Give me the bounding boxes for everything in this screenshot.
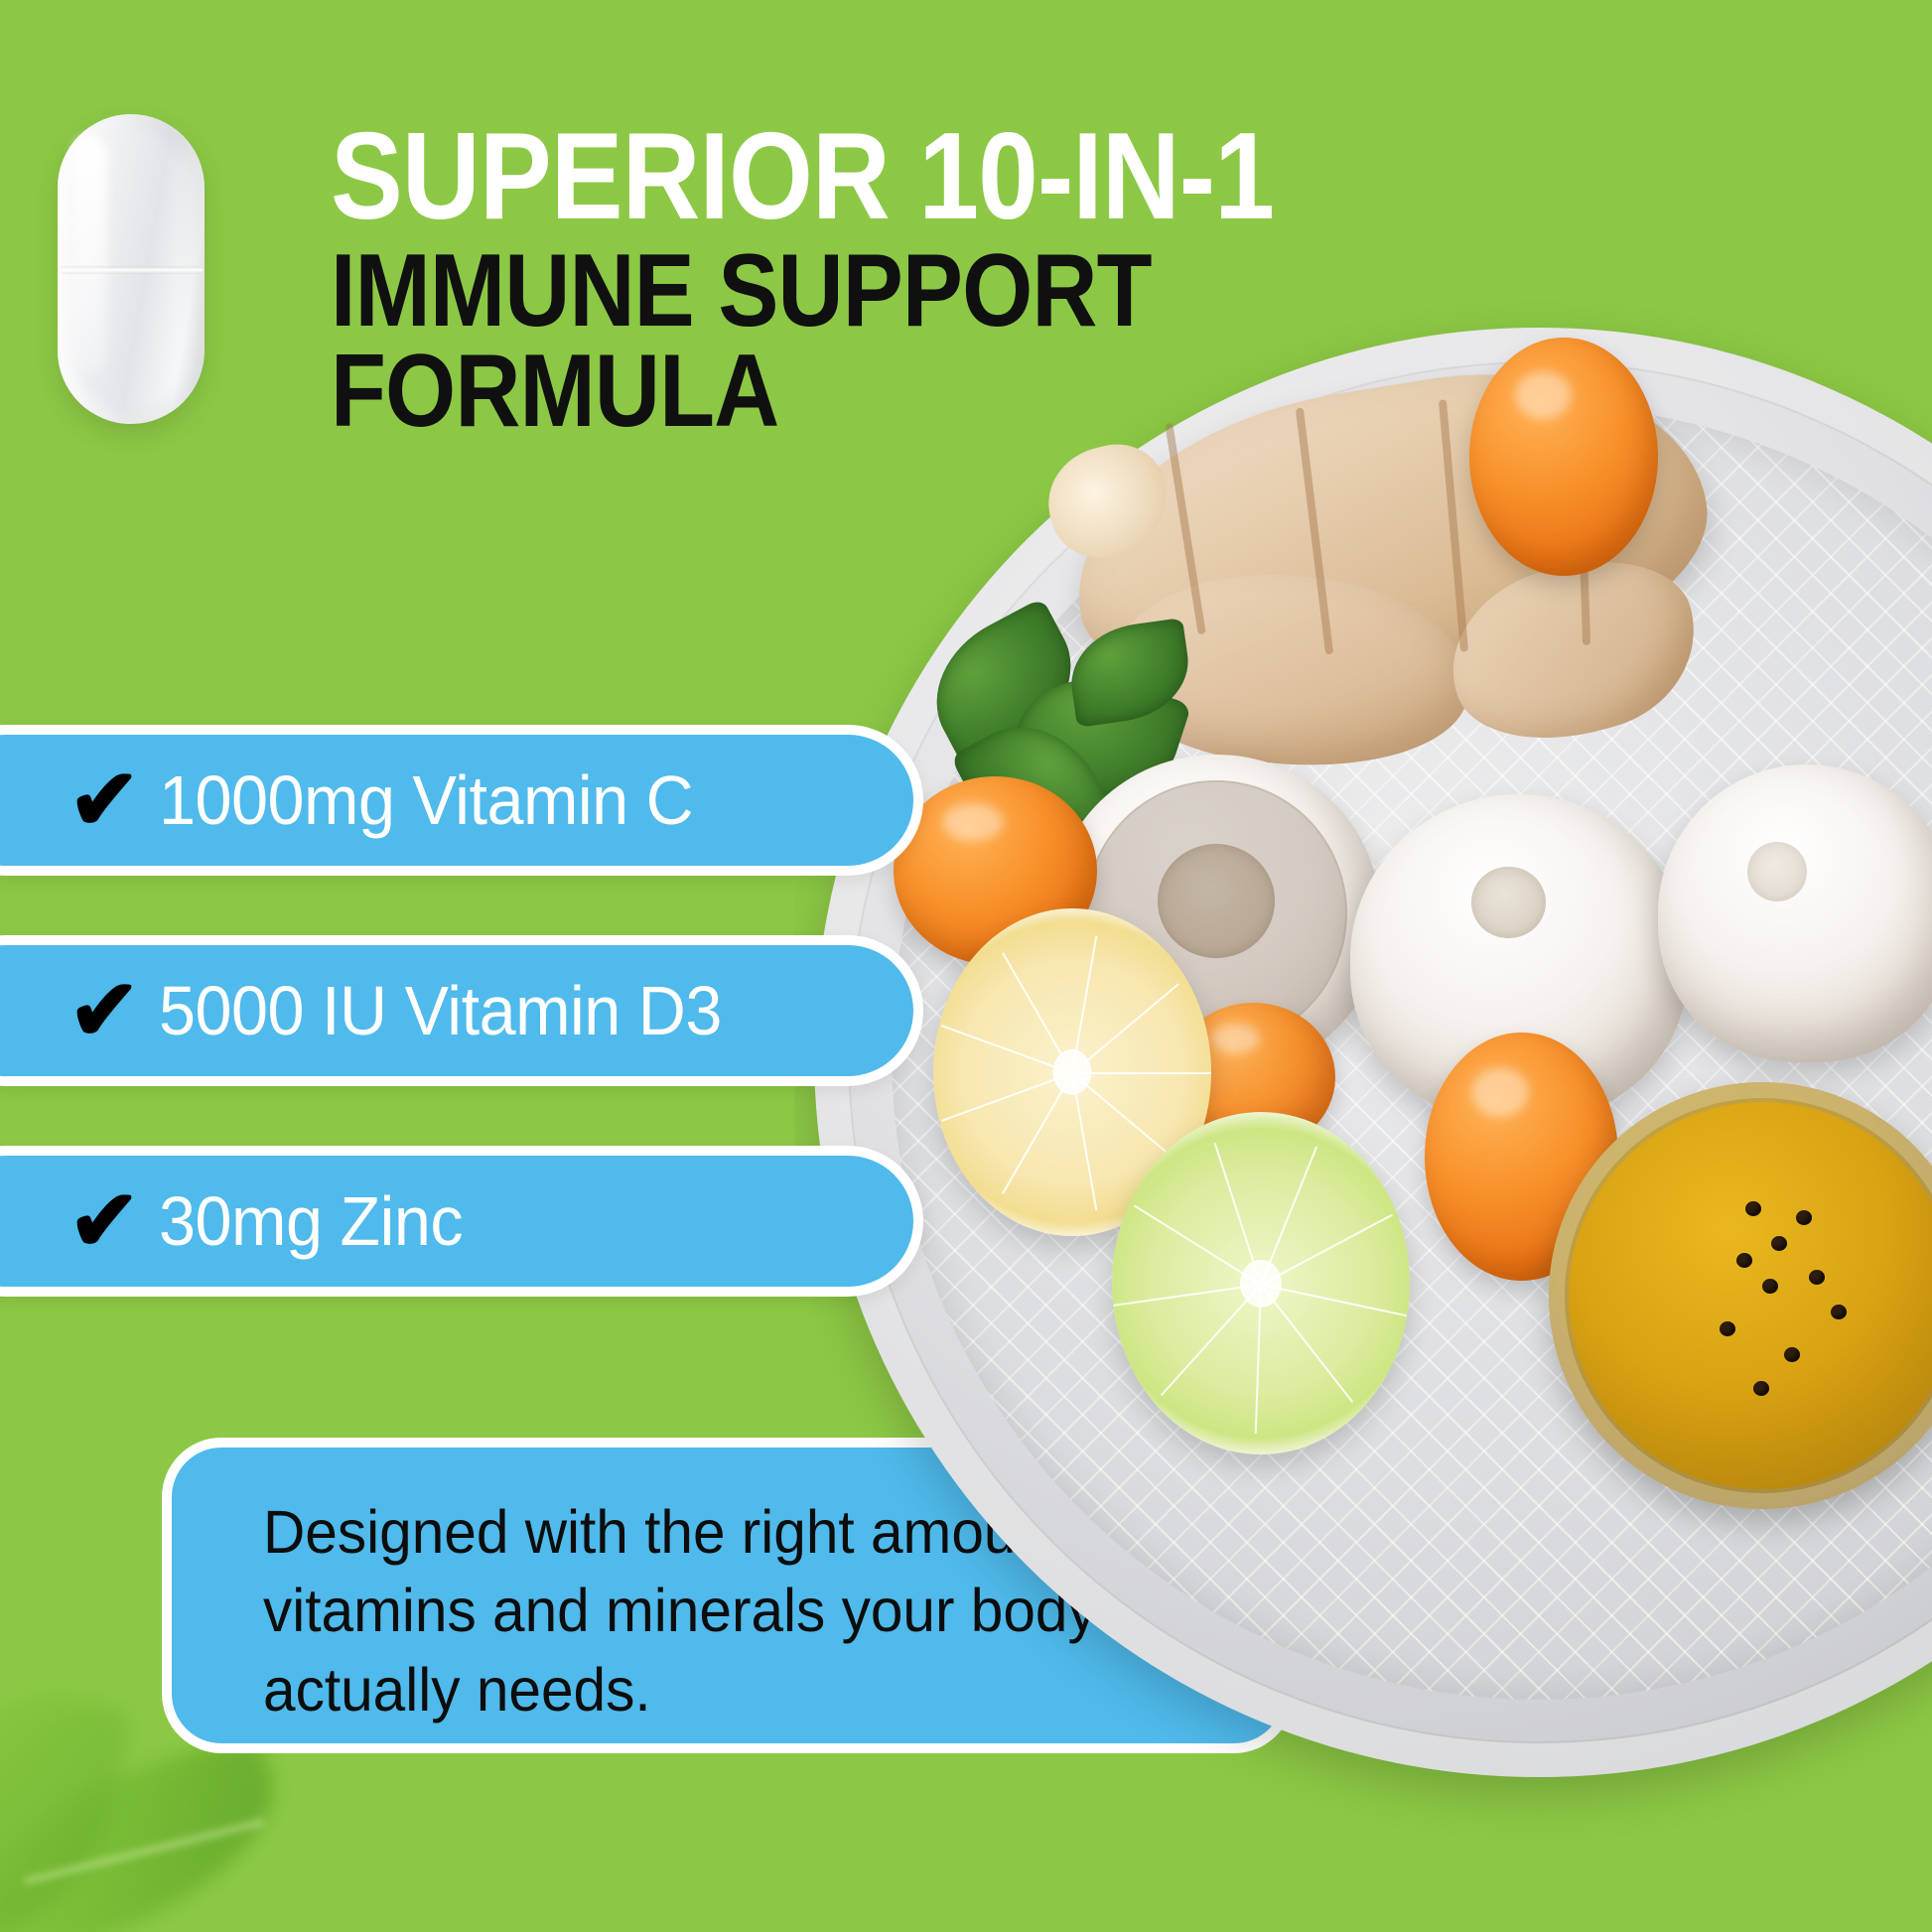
capsule-highlight [73, 136, 107, 374]
garlic-bulb [1658, 764, 1932, 1062]
feature-bar-vitamin-c: ✔ 1000mg Vitamin C [0, 725, 923, 876]
feature-label: 30mg Zinc [159, 1181, 463, 1261]
lime-half [1112, 1112, 1410, 1454]
feature-bar-vitamin-d3: ✔ 5000 IU Vitamin D3 [0, 935, 923, 1086]
headline-line-2: IMMUNE SUPPORT [331, 242, 1379, 341]
plate [814, 328, 1932, 1777]
capsule-icon [58, 114, 205, 424]
feature-label: 1000mg Vitamin C [159, 760, 693, 840]
page-title: SUPERIOR 10-IN-1 IMMUNE SUPPORT FORMULA [331, 119, 1522, 440]
check-icon: ✔ [50, 758, 159, 843]
headline-line-1: SUPERIOR 10-IN-1 [331, 119, 1379, 236]
feature-bar-zinc: ✔ 30mg Zinc [0, 1146, 923, 1297]
product-infographic: SUPERIOR 10-IN-1 IMMUNE SUPPORT FORMULA … [0, 0, 1932, 1932]
feature-label: 5000 IU Vitamin D3 [159, 971, 722, 1050]
check-icon: ✔ [50, 1178, 159, 1264]
capsule-score-line [60, 266, 203, 274]
headline-line-3: FORMULA [331, 343, 1379, 441]
check-icon: ✔ [50, 968, 159, 1053]
